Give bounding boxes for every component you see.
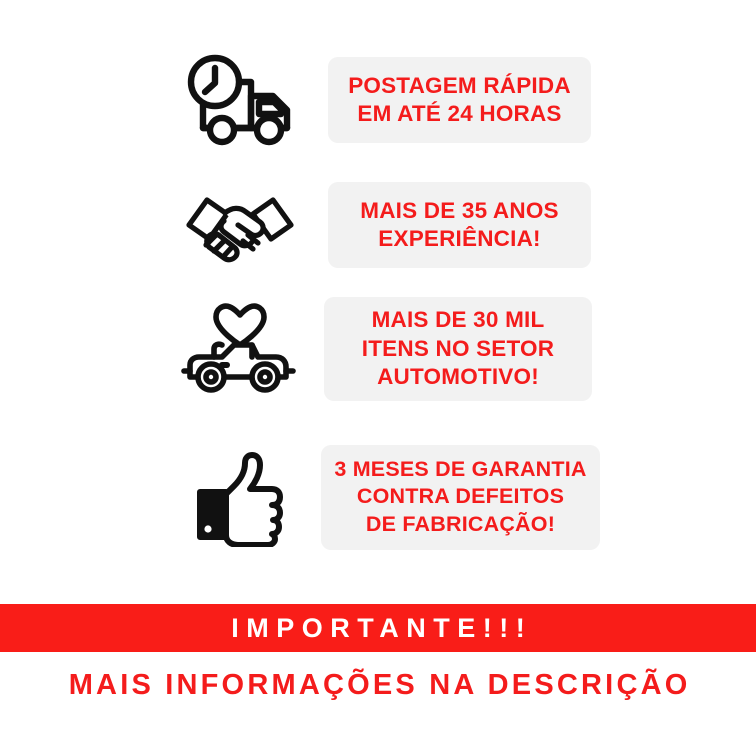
benefit-line: 3 MESES DE GARANTIA <box>334 456 586 483</box>
handshake-icon <box>160 183 320 267</box>
benefits-list: POSTAGEM RÁPIDA EM ATÉ 24 HORAS <box>0 0 756 600</box>
benefit-text-shipping: POSTAGEM RÁPIDA EM ATÉ 24 HORAS <box>328 57 591 143</box>
benefit-line: EM ATÉ 24 HORAS <box>357 100 561 128</box>
benefit-line: CONTRA DEFEITOS <box>357 483 564 510</box>
benefit-row-warranty: 3 MESES DE GARANTIA CONTRA DEFEITOS DE F… <box>0 432 756 562</box>
benefit-row-shipping: POSTAGEM RÁPIDA EM ATÉ 24 HORAS <box>0 40 756 160</box>
benefit-text-warranty: 3 MESES DE GARANTIA CONTRA DEFEITOS DE F… <box>321 445 600 550</box>
car-heart-icon <box>160 297 320 401</box>
benefit-line: POSTAGEM RÁPIDA <box>348 72 571 100</box>
delivery-truck-clock-icon <box>160 52 320 148</box>
benefit-line: MAIS DE 35 ANOS <box>360 197 558 225</box>
benefit-line: AUTOMOTIVO! <box>377 363 539 391</box>
important-banner-text: IMPORTANTE!!! <box>224 613 532 644</box>
benefit-text-catalog: MAIS DE 30 MIL ITENS NO SETOR AUTOMOTIVO… <box>324 297 592 401</box>
important-banner: IMPORTANTE!!! <box>0 604 756 652</box>
benefit-row-catalog: MAIS DE 30 MIL ITENS NO SETOR AUTOMOTIVO… <box>0 288 756 410</box>
benefit-line: DE FABRICAÇÃO! <box>366 511 555 538</box>
benefit-text-experience: MAIS DE 35 ANOS EXPERIÊNCIA! <box>328 182 591 268</box>
description-callout: MAIS INFORMAÇÕES NA DESCRIÇÃO <box>0 655 756 715</box>
description-callout-text: MAIS INFORMAÇÕES NA DESCRIÇÃO <box>66 669 691 702</box>
benefit-line: MAIS DE 30 MIL <box>372 306 545 334</box>
benefit-row-experience: MAIS DE 35 ANOS EXPERIÊNCIA! <box>0 165 756 285</box>
thumbs-up-icon <box>160 447 320 547</box>
benefit-line: EXPERIÊNCIA! <box>378 225 540 253</box>
benefit-line: ITENS NO SETOR <box>362 335 554 363</box>
